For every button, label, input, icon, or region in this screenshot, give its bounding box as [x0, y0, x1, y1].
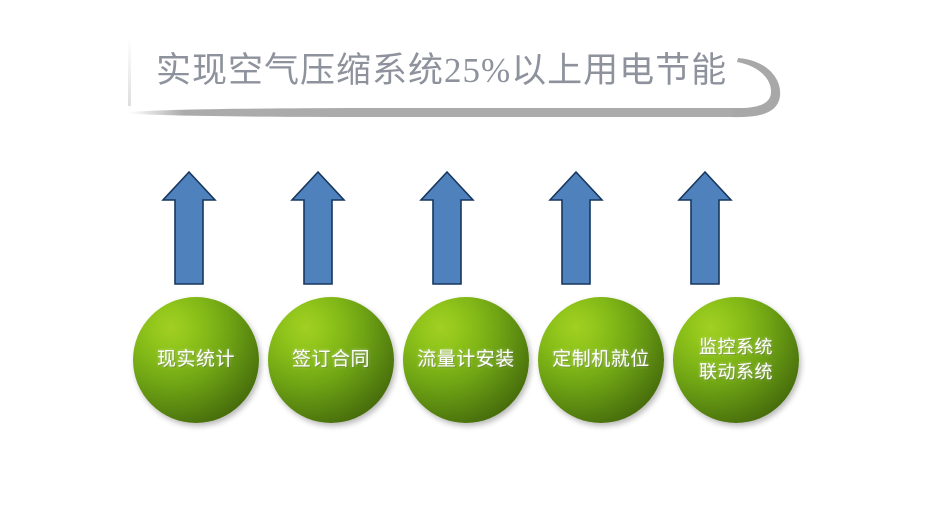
- process-node-3[interactable]: 流量计安装: [403, 297, 529, 423]
- process-node-5[interactable]: 监控系统 联动系统: [673, 297, 799, 423]
- page-title: 实现空气压缩系统25%以上用电节能: [156, 40, 756, 102]
- process-node-2-label: 签订合同: [288, 347, 374, 373]
- process-arrow-2: [290, 170, 346, 286]
- process-arrow-4: [548, 170, 604, 286]
- banner-left-edge: [128, 36, 131, 110]
- title-banner: 实现空气压缩系统25%以上用电节能: [128, 34, 788, 124]
- process-node-1[interactable]: 现实统计: [133, 297, 259, 423]
- banner-underline-bar: [128, 108, 744, 117]
- process-node-4[interactable]: 定制机就位: [538, 297, 664, 423]
- process-node-2[interactable]: 签订合同: [268, 297, 394, 423]
- process-node-1-label: 现实统计: [153, 347, 239, 373]
- process-node-5-label: 监控系统 联动系统: [695, 335, 777, 385]
- banner-bar-taper-mask: [128, 106, 184, 118]
- process-node-4-label: 定制机就位: [548, 347, 654, 373]
- process-arrow-5: [677, 170, 733, 286]
- process-arrow-3: [419, 170, 475, 286]
- process-arrow-1: [161, 170, 217, 286]
- presentation-slide: 实现空气压缩系统25%以上用电节能 现实统计 签订合同 流量计安装: [0, 0, 945, 529]
- process-node-3-label: 流量计安装: [413, 347, 519, 373]
